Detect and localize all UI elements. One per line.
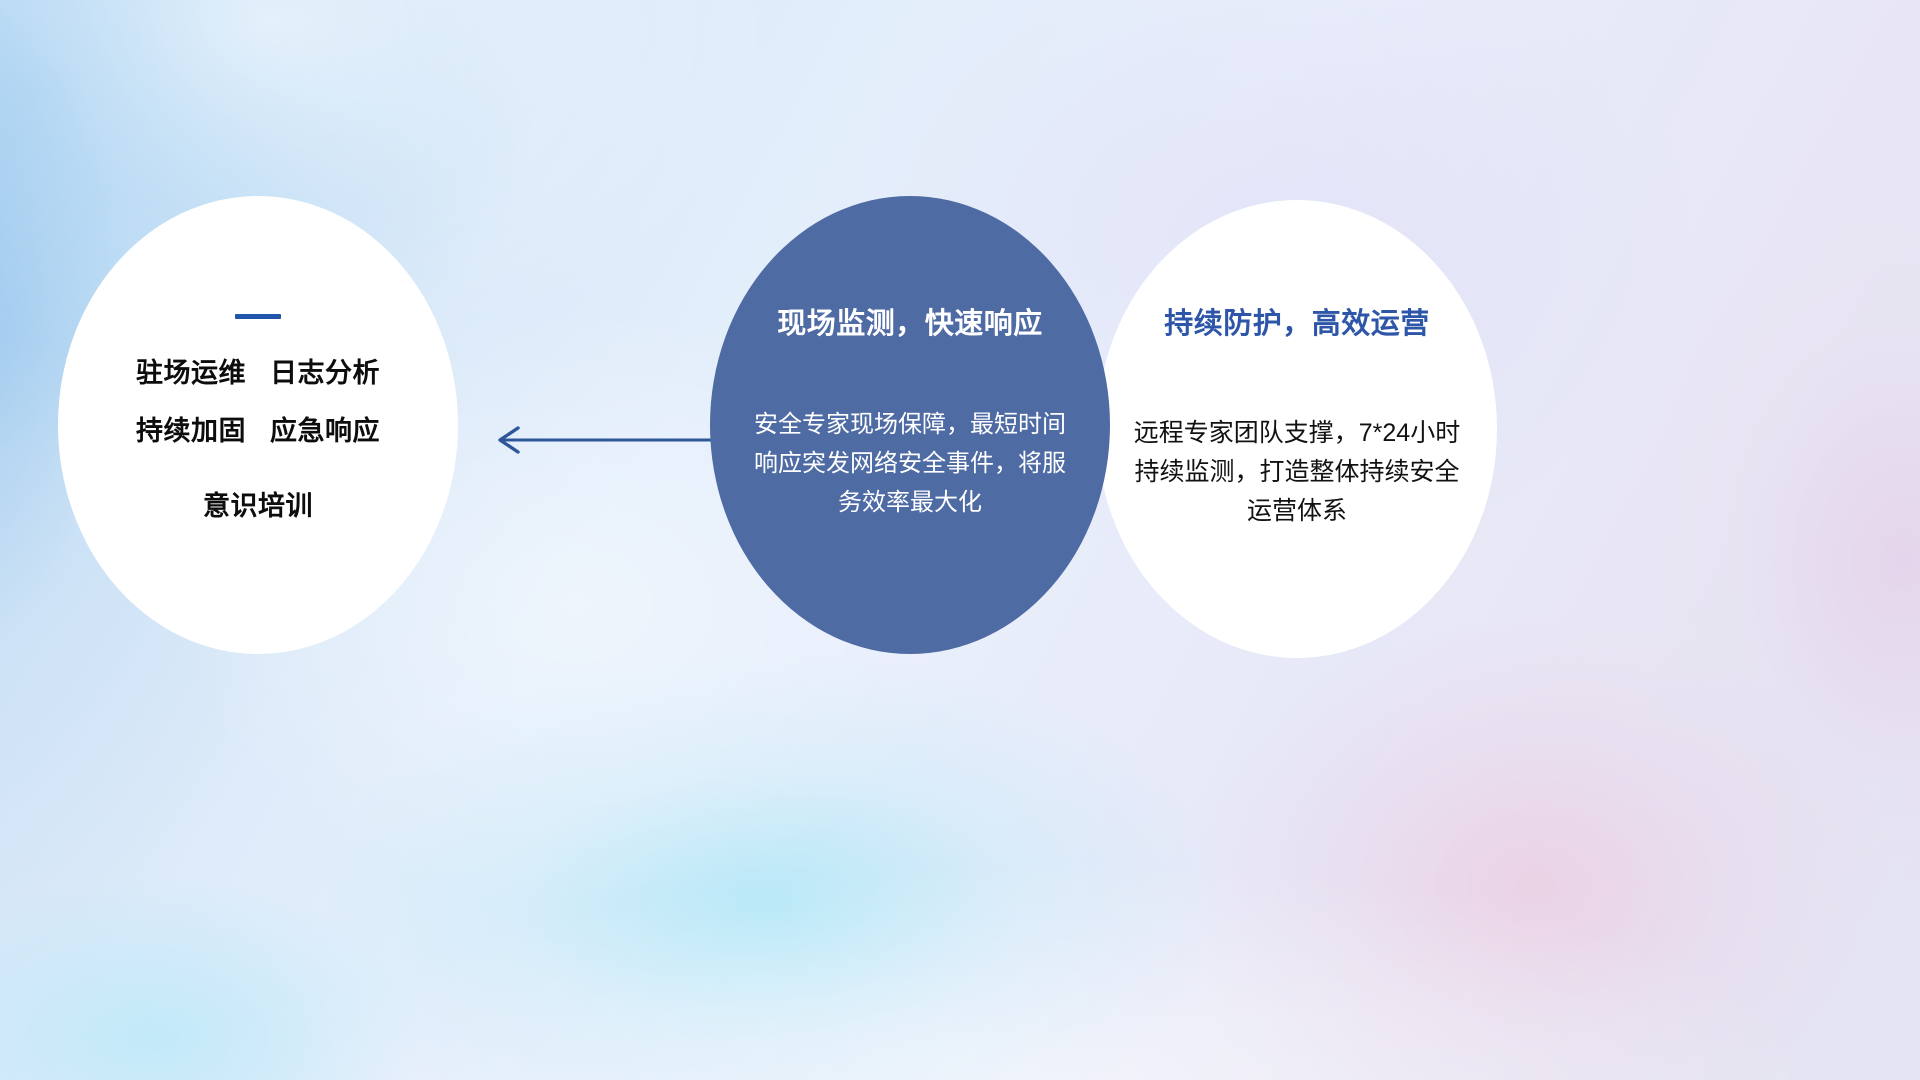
left-pointing-arrow-icon <box>488 418 713 462</box>
continuous-protection-body: 远程专家团队支撑，7*24小时持续监测，打造整体持续安全运营体系 <box>1125 414 1470 531</box>
continuous-protection-circle: 持续防护，高效运营 远程专家团队支撑，7*24小时持续监测，打造整体持续安全运营… <box>1097 200 1497 658</box>
capability-line-3: 意识培训 <box>203 490 313 522</box>
capability-line-1: 驻场运维 日志分析 <box>136 357 380 389</box>
onsite-monitoring-circle: 现场监测，快速响应 安全专家现场保障，最短时间响应突发网络安全事件，将服务效率最… <box>710 196 1110 654</box>
continuous-protection-title: 持续防护，高效运营 <box>1164 300 1430 342</box>
capability-circle-left: 驻场运维 日志分析 持续加固 应急响应 意识培训 <box>58 196 458 654</box>
capability-line-2: 持续加固 应急响应 <box>136 415 380 447</box>
divider-dash <box>235 314 281 319</box>
onsite-monitoring-title: 现场监测，快速响应 <box>777 300 1043 342</box>
onsite-monitoring-body: 安全专家现场保障，最短时间响应突发网络安全事件，将服务效率最大化 <box>750 406 1070 523</box>
slide-canvas: 驻场运维 日志分析 持续加固 应急响应 意识培训 现场监测，快速响应 安全专家现… <box>0 0 1920 1080</box>
